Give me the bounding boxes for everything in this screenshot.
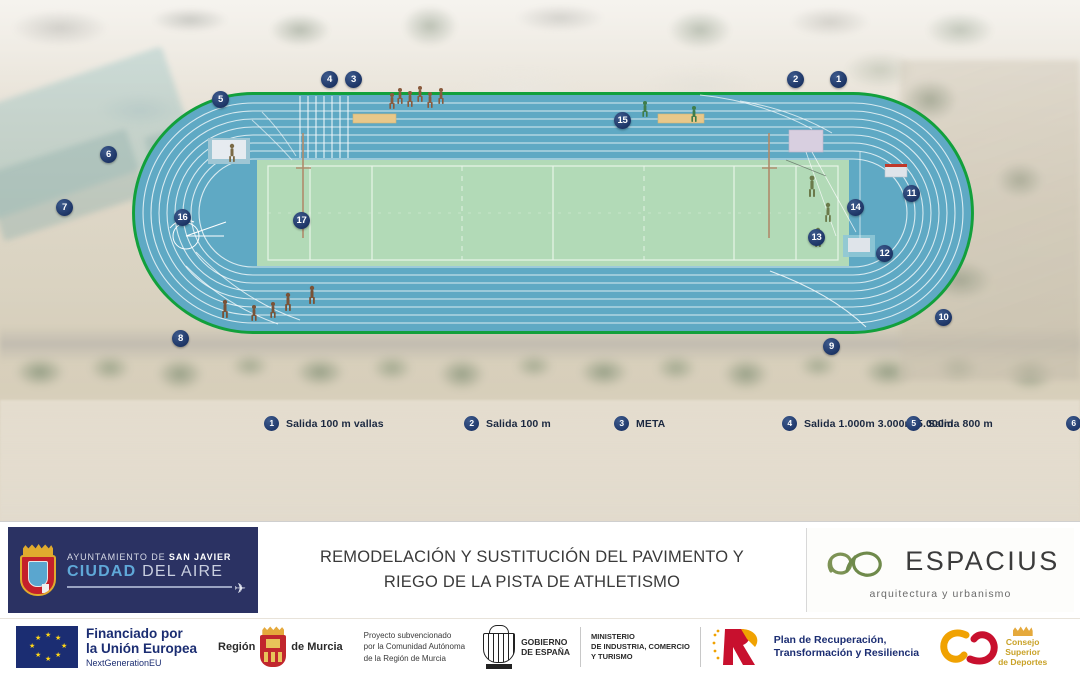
eu-funding-text: Financiado por la Unión Europea NextGene… <box>86 626 197 668</box>
map-marker-3: 3 <box>345 71 362 88</box>
ministerio-line3: Y TURISMO <box>591 652 690 662</box>
murcia-castle <box>266 639 280 648</box>
shield-shape <box>20 555 56 596</box>
divider-6 <box>929 627 930 667</box>
legend-item-1: 1Salida 100 m vallas <box>264 412 464 435</box>
murcia-pre: Región <box>218 641 255 653</box>
csd-crown-icon <box>1013 626 1033 636</box>
plane-trail-rule: ✈ <box>67 586 232 588</box>
gobierno-shield-body <box>483 633 515 663</box>
san-javier-line1: AYUNTAMIENTO DE SAN JAVIER <box>67 552 232 563</box>
legend-badge-5: 5 <box>906 416 921 431</box>
legend-item-3: 3META <box>614 412 782 435</box>
crown-shape <box>23 544 53 555</box>
tower-shape <box>42 584 49 593</box>
logo-espacius: ESPACIUS arquitectura y urbanismo <box>806 528 1074 612</box>
murcia-crowns <box>264 652 282 662</box>
map-marker-13: 13 <box>808 229 825 246</box>
murcia-post: de Murcia <box>291 641 342 653</box>
gobierno-line2: DE ESPAÑA <box>521 647 570 657</box>
legend-label-2: Salida 100 m <box>486 418 551 430</box>
csd-swirl-icon <box>940 627 998 667</box>
map-marker-4: 4 <box>321 71 338 88</box>
legend-badge-1: 1 <box>264 416 279 431</box>
subvencion-line2: por la Comunidad Autónoma <box>364 641 465 653</box>
legend-item-5: 5Salida 800 m <box>906 412 1066 435</box>
divider-2 <box>353 627 354 667</box>
ministerio-line1: MINISTERIO <box>591 632 690 642</box>
map-marker-7: 7 <box>56 199 73 216</box>
del-aire-word: DEL AIRE <box>136 563 223 580</box>
map-marker-15: 15 <box>614 112 631 129</box>
region-de-murcia-block: Región de Murcia <box>218 619 343 675</box>
espacius-wordmark: ESPACIUS <box>905 546 1060 577</box>
european-union-flag-icon: ★ ★ ★ ★ ★ ★ ★ ★ <box>16 626 78 668</box>
page-title: REMODELACIÓN Y SUSTITUCIÓN DEL PAVIMENTO… <box>258 522 806 618</box>
map-marker-10: 10 <box>935 309 952 326</box>
track-svg <box>0 0 1080 522</box>
csd-text: Consejo Superior de Deportes <box>998 638 1047 667</box>
legend-label-5: Salida 800 m <box>928 418 993 430</box>
eu-funding-block: ★ ★ ★ ★ ★ ★ ★ ★ Financiado por la Unión … <box>16 619 197 675</box>
san-javier-line2: CIUDAD DEL AIRE <box>67 563 232 582</box>
gobierno-text: GOBIERNO DE ESPAÑA <box>521 637 570 657</box>
ayuntamiento-prefix: AYUNTAMIENTO DE <box>67 552 169 562</box>
legend-badge-2: 2 <box>464 416 479 431</box>
san-javier-wordmark: AYUNTAMIENTO DE SAN JAVIER CIUDAD DEL AI… <box>67 552 232 587</box>
map-marker-6: 6 <box>100 146 117 163</box>
project-title-line1: REMODELACIÓN Y SUSTITUCIÓN DEL PAVIMENTO… <box>320 545 744 570</box>
murcia-crown <box>262 626 284 635</box>
divider-4 <box>580 627 581 667</box>
espacius-swirl-icon <box>821 541 897 583</box>
logo-ayuntamiento-san-javier: AYUNTAMIENTO DE SAN JAVIER CIUDAD DEL AI… <box>8 527 258 613</box>
espacius-tagline: arquitectura y urbanismo <box>870 588 1012 600</box>
gobierno-line1: GOBIERNO <box>521 637 570 647</box>
eu-line1: Financiado por <box>86 626 197 641</box>
divider-3 <box>473 627 474 667</box>
subvencion-line1: Proyecto subvencionado <box>364 630 465 642</box>
divider-5 <box>700 627 701 667</box>
gobierno-de-espana-block: GOBIERNO DE ESPAÑA <box>482 619 570 675</box>
airplane-icon: ✈ <box>234 581 246 595</box>
csd-line3: de Deportes <box>998 658 1047 668</box>
legend-badge-4: 4 <box>782 416 797 431</box>
consejo-superior-deportes-block: Consejo Superior de Deportes <box>998 626 1047 667</box>
map-marker-16: 16 <box>174 209 191 226</box>
map-marker-11: 11 <box>903 185 920 202</box>
subvencion-line3: de la Región de Murcia <box>364 653 465 665</box>
ciudad-word: CIUDAD <box>67 563 136 580</box>
map-marker-2: 2 <box>787 71 804 88</box>
legend-badge-3: 3 <box>614 416 629 431</box>
project-title-line2: RIEGO DE LA PISTA DE ATHLETISMO <box>384 570 680 595</box>
map-marker-17: 17 <box>293 212 310 229</box>
title-banner: AYUNTAMIENTO DE SAN JAVIER CIUDAD DEL AI… <box>0 521 1080 618</box>
legend-item-6: 6Salida 400 m <box>1066 412 1080 435</box>
legend: 1Salida 100 m vallas2Salida 100 m3META4S… <box>264 412 1074 435</box>
divider-1 <box>207 627 208 667</box>
map-marker-12: 12 <box>876 245 893 262</box>
legend-badge-6: 6 <box>1066 416 1080 431</box>
espacius-row: ESPACIUS <box>821 541 1060 583</box>
eu-line2: la Unión Europea <box>86 641 197 656</box>
map-marker-9: 9 <box>823 338 840 355</box>
subvencion-text: Proyecto subvencionado por la Comunidad … <box>364 630 465 665</box>
murcia-shield-body <box>260 635 286 667</box>
san-javier-bold: SAN JAVIER <box>169 552 231 562</box>
high-jump-mat <box>208 138 250 164</box>
prtr-logo-icon <box>711 625 767 669</box>
prtr-line1: Plan de Recuperación, <box>774 634 919 647</box>
gobierno-crown <box>489 625 509 633</box>
gobierno-shield-icon <box>482 625 516 669</box>
prtr-text: Plan de Recuperación, Transformación y R… <box>774 634 919 660</box>
prtr-line2: Transformación y Resiliencia <box>774 647 919 660</box>
map-marker-14: 14 <box>847 199 864 216</box>
legend-item-2: 2Salida 100 m <box>464 412 614 435</box>
funding-banner: ★ ★ ★ ★ ★ ★ ★ ★ Financiado por la Unión … <box>0 619 1080 675</box>
legend-label-1: Salida 100 m vallas <box>286 418 384 430</box>
legend-item-4: 4Salida 1.000m 3.000m 5.000m <box>782 412 906 435</box>
plan-recuperacion-block: Plan de Recuperación, Transformación y R… <box>711 619 919 675</box>
ministerio-block: MINISTERIO DE INDUSTRIA, COMERCIO Y TURI… <box>591 632 690 662</box>
legend-label-3: META <box>636 418 665 430</box>
murcia-shield-icon <box>258 626 288 668</box>
coat-of-arms-icon <box>18 544 58 596</box>
eu-line3: NextGenerationEU <box>86 658 197 668</box>
water-jump <box>885 164 907 177</box>
shield-field <box>28 561 48 587</box>
throws-pad <box>789 130 823 152</box>
ministerio-line2: DE INDUSTRIA, COMERCIO <box>591 642 690 652</box>
map-marker-5: 5 <box>212 91 229 108</box>
map-marker-1: 1 <box>830 71 847 88</box>
athletics-track-plan <box>0 0 1080 522</box>
map-marker-8: 8 <box>172 330 189 347</box>
gobierno-base <box>486 664 512 669</box>
